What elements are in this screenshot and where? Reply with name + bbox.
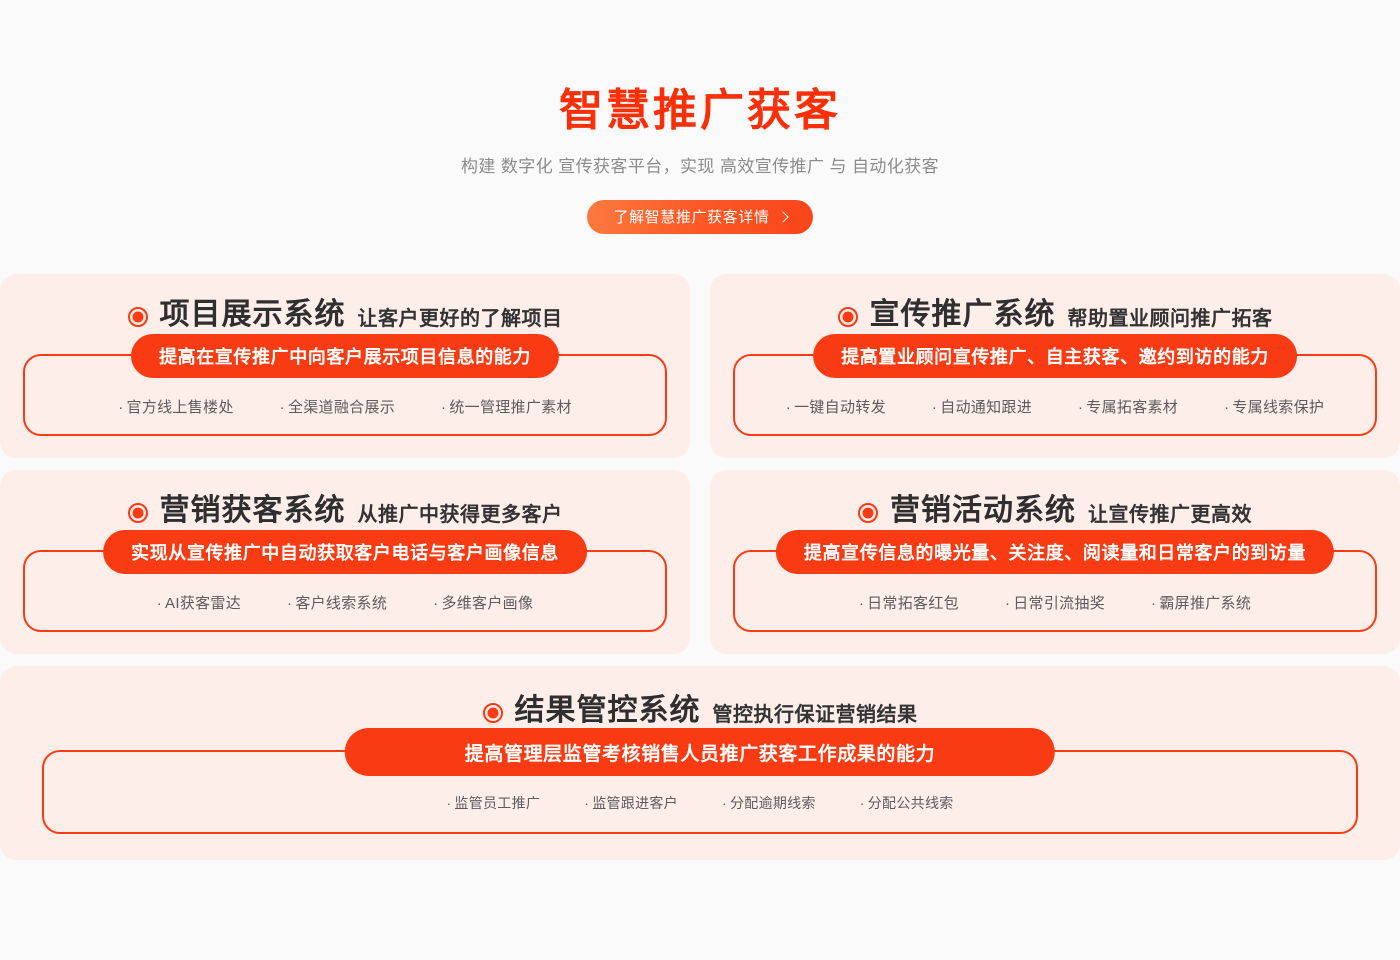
card-feature-list: AI获客雷达客户线索系统多维客户画像 (25, 574, 665, 630)
feature-card[interactable]: 项目展示系统让客户更好的了解项目提高在宣传推广中向客户展示项目信息的能力官方线上… (0, 274, 690, 458)
feature-card[interactable]: 营销获客系统从推广中获得更多客户实现从宣传推广中自动获取客户电话与客户画像信息A… (0, 470, 690, 654)
feature-card[interactable]: 宣传推广系统帮助置业顾问推广拓客提高置业顾问宣传推广、自主获客、邀约到访的能力一… (710, 274, 1400, 458)
feature-item[interactable]: 自动通知跟进 (932, 396, 1032, 417)
cta-container: 了解智慧推广获客详情 (0, 200, 1400, 234)
card-feature-list: 日常拓客红包日常引流抽奖霸屏推广系统 (735, 574, 1375, 630)
card-body: 提高置业顾问宣传推广、自主获客、邀约到访的能力一键自动转发自动通知跟进专属拓客素… (733, 354, 1377, 436)
card-highlight-band: 提高在宣传推广中向客户展示项目信息的能力 (131, 334, 559, 378)
card-header: 项目展示系统让客户更好的了解项目 (0, 274, 690, 330)
feature-item[interactable]: 日常拓客红包 (859, 592, 959, 613)
page-subtitle: 构建 数字化 宣传获客平台，实现 高效宣传推广 与 自动化获客 (0, 157, 1400, 177)
card-feature-list: 监管员工推广监管跟进客户分配逾期线索分配公共线索 (44, 774, 1356, 832)
feature-item[interactable]: 多维客户画像 (433, 592, 533, 613)
bullet-dot-icon (128, 307, 148, 327)
feature-card[interactable]: 结果管控系统管控执行保证营销结果提高管理层监管考核销售人员推广获客工作成果的能力… (0, 666, 1400, 860)
card-feature-list: 一键自动转发自动通知跟进专属拓客素材专属线索保护 (735, 378, 1375, 434)
card-header: 营销获客系统从推广中获得更多客户 (0, 470, 690, 526)
feature-item[interactable]: AI获客雷达 (157, 592, 241, 613)
card-feature-list: 官方线上售楼处全渠道融合展示统一管理推广素材 (25, 378, 665, 434)
bullet-dot-icon (483, 703, 503, 723)
feature-card-grid: 项目展示系统让客户更好的了解项目提高在宣传推广中向客户展示项目信息的能力官方线上… (0, 274, 1400, 860)
feature-item[interactable]: 专属线索保护 (1224, 396, 1324, 417)
card-subtitle: 管控执行保证营销结果 (713, 705, 918, 725)
page-root: 智慧推广获客 构建 数字化 宣传获客平台，实现 高效宣传推广 与 自动化获客 了… (0, 0, 1400, 960)
card-subtitle: 从推广中获得更多客户 (358, 505, 563, 525)
card-highlight-band: 提高管理层监管考核销售人员推广获客工作成果的能力 (345, 728, 1055, 776)
card-title: 营销活动系统 (890, 496, 1076, 526)
card-body: 提高在宣传推广中向客户展示项目信息的能力官方线上售楼处全渠道融合展示统一管理推广… (23, 354, 667, 436)
feature-item[interactable]: 霸屏推广系统 (1151, 592, 1251, 613)
card-header: 宣传推广系统帮助置业顾问推广拓客 (710, 274, 1400, 330)
feature-item[interactable]: 客户线索系统 (287, 592, 387, 613)
card-title: 项目展示系统 (160, 300, 346, 330)
page-title: 智慧推广获客 (0, 86, 1400, 135)
feature-item[interactable]: 监管员工推广 (446, 793, 540, 813)
feature-item[interactable]: 日常引流抽奖 (1005, 592, 1105, 613)
card-header: 营销活动系统让宣传推广更高效 (710, 470, 1400, 526)
feature-item[interactable]: 统一管理推广素材 (441, 396, 572, 417)
feature-item[interactable]: 全渠道融合展示 (280, 396, 395, 417)
feature-item[interactable]: 分配逾期线索 (722, 793, 816, 813)
learn-more-label: 了解智慧推广获客详情 (613, 206, 769, 227)
card-body: 提高宣传信息的曝光量、关注度、阅读量和日常客户的到访量日常拓客红包日常引流抽奖霸… (733, 550, 1377, 632)
card-highlight-band: 实现从宣传推广中自动获取客户电话与客户画像信息 (103, 530, 587, 574)
card-subtitle: 让宣传推广更高效 (1088, 505, 1252, 525)
bullet-dot-icon (858, 503, 878, 523)
card-subtitle: 让客户更好的了解项目 (358, 309, 563, 329)
feature-item[interactable]: 分配公共线索 (860, 793, 954, 813)
feature-item[interactable]: 官方线上售楼处 (118, 396, 233, 417)
card-highlight-band: 提高宣传信息的曝光量、关注度、阅读量和日常客户的到访量 (776, 530, 1334, 574)
feature-item[interactable]: 监管跟进客户 (584, 793, 678, 813)
feature-card[interactable]: 营销活动系统让宣传推广更高效提高宣传信息的曝光量、关注度、阅读量和日常客户的到访… (710, 470, 1400, 654)
card-header: 结果管控系统管控执行保证营销结果 (0, 666, 1400, 726)
card-title: 结果管控系统 (515, 696, 701, 726)
card-body: 实现从宣传推广中自动获取客户电话与客户画像信息AI获客雷达客户线索系统多维客户画… (23, 550, 667, 632)
card-body: 提高管理层监管考核销售人员推广获客工作成果的能力监管员工推广监管跟进客户分配逾期… (42, 750, 1358, 834)
card-title: 营销获客系统 (160, 496, 346, 526)
bullet-dot-icon (128, 503, 148, 523)
card-highlight-band: 提高置业顾问宣传推广、自主获客、邀约到访的能力 (813, 334, 1297, 378)
card-subtitle: 帮助置业顾问推广拓客 (1068, 309, 1273, 329)
feature-item[interactable]: 专属拓客素材 (1078, 396, 1178, 417)
learn-more-button[interactable]: 了解智慧推广获客详情 (587, 200, 812, 234)
chevron-right-icon (777, 211, 788, 222)
hero-section: 智慧推广获客 构建 数字化 宣传获客平台，实现 高效宣传推广 与 自动化获客 了… (0, 0, 1400, 234)
bullet-dot-icon (838, 307, 858, 327)
card-title: 宣传推广系统 (870, 300, 1056, 330)
feature-item[interactable]: 一键自动转发 (786, 396, 886, 417)
